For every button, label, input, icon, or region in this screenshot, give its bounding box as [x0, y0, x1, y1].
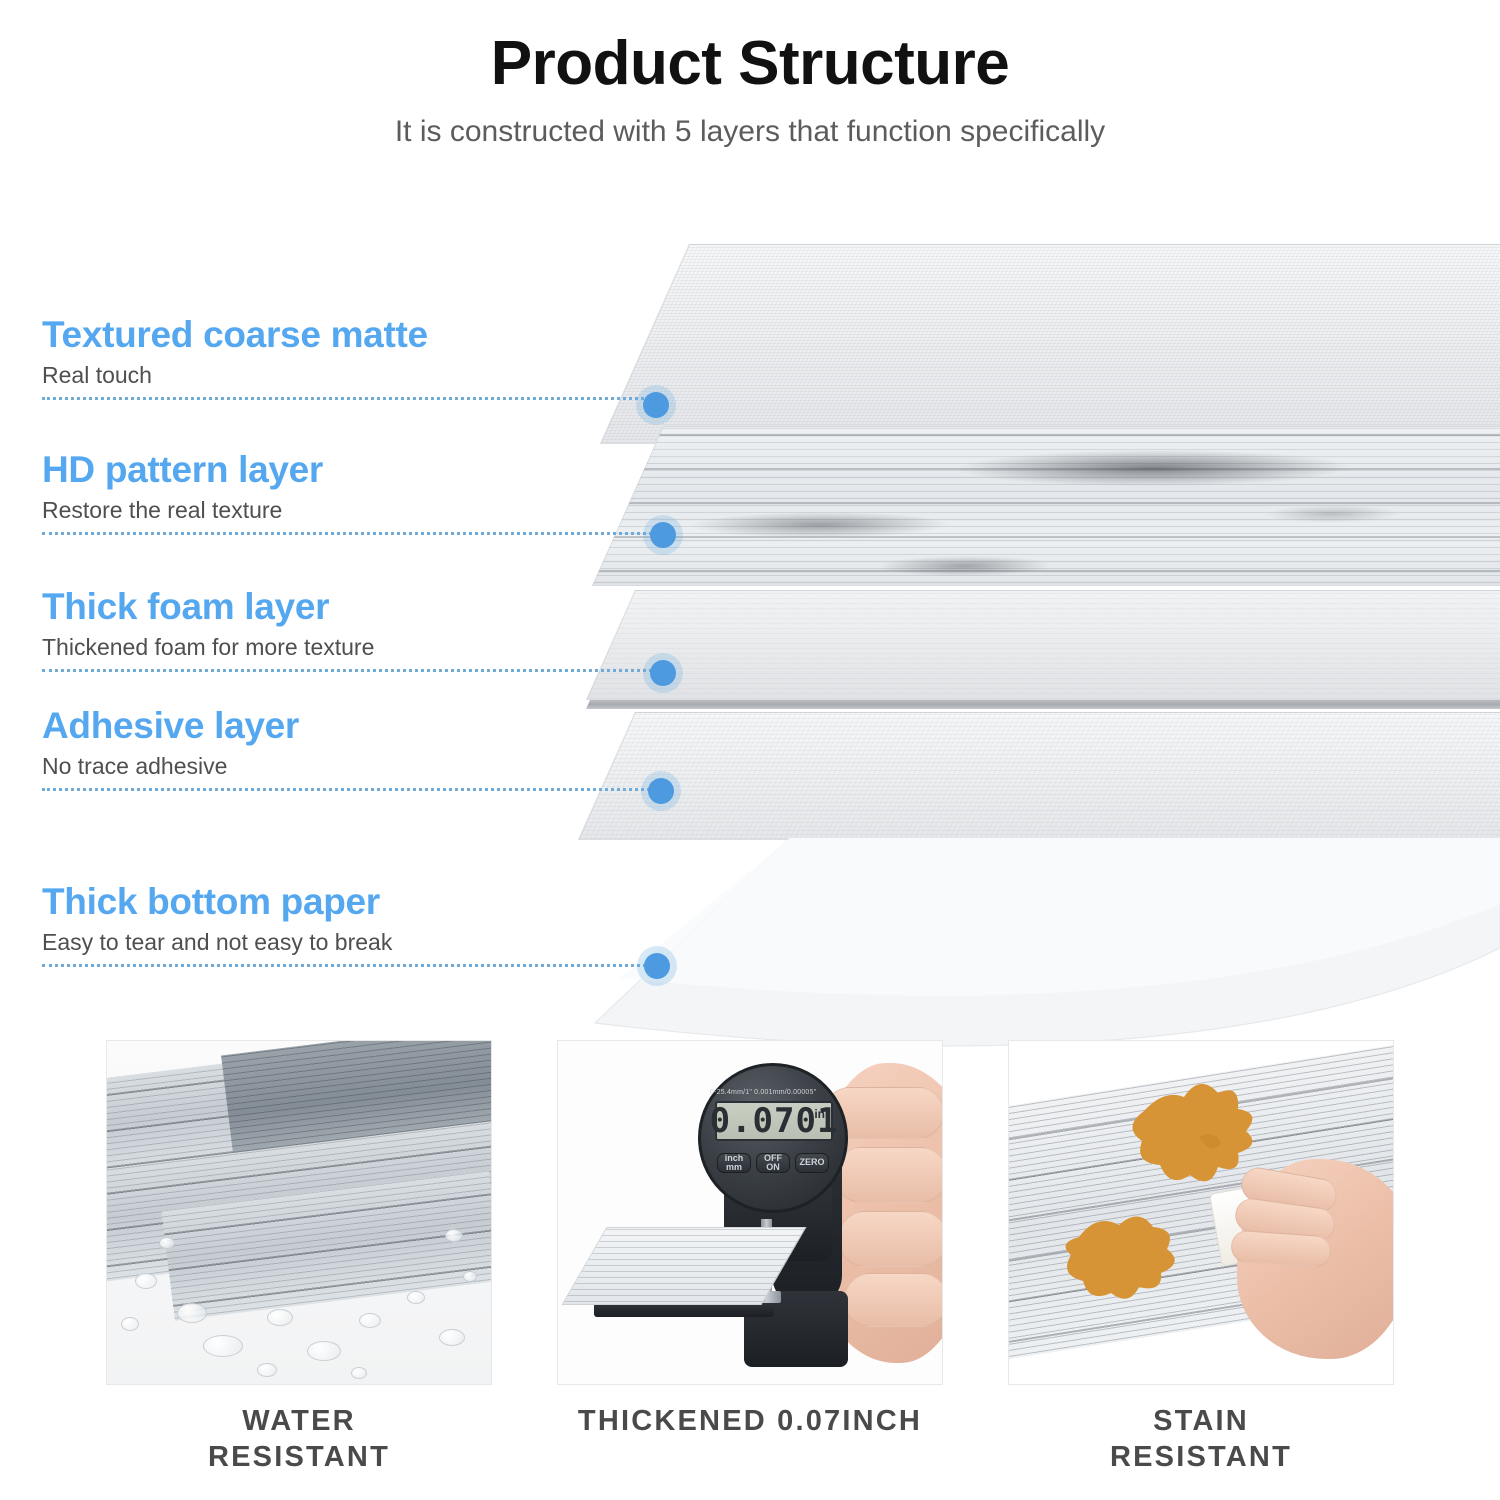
- water-droplet: [135, 1273, 157, 1289]
- water-droplet: [351, 1367, 367, 1379]
- thickness-gauge-photo: 0-25.4mm/1" 0.001mm/0.00005" 0.0701 in i…: [557, 1040, 943, 1385]
- water-droplet: [267, 1309, 293, 1326]
- callout-title: Thick bottom paper: [42, 882, 652, 922]
- feature-caption-line1: STAIN: [1008, 1403, 1394, 1439]
- callout-subtitle: Real touch: [42, 362, 652, 388]
- feature-thickness: 0-25.4mm/1" 0.001mm/0.00005" 0.0701 in i…: [557, 1040, 943, 1439]
- layer-foam-edge: [586, 700, 1500, 709]
- bottom-paper-shape: [540, 838, 1500, 1068]
- feature-caption: THICKENED 0.07INCH: [557, 1403, 943, 1439]
- water-droplet: [439, 1329, 465, 1346]
- gauge-frame-anvil: [594, 1303, 774, 1317]
- water-droplet: [121, 1317, 139, 1331]
- water-droplet: [203, 1335, 243, 1357]
- gauge-zero-button[interactable]: ZERO: [795, 1153, 829, 1173]
- callout-textured-coarse-matte: Textured coarse matte Real touch: [42, 315, 652, 400]
- finger: [844, 1273, 943, 1327]
- callout-thick-bottom-paper: Thick bottom paper Easy to tear and not …: [42, 882, 652, 967]
- callout-dotted-line: [42, 532, 658, 535]
- callout-dotted-line: [42, 397, 650, 400]
- layer-sheet-thick-bottom-paper: [540, 838, 1500, 1068]
- finger: [838, 1211, 943, 1267]
- callout-dotted-line: [42, 669, 658, 672]
- gauge-unit: in: [814, 1107, 825, 1121]
- layer-sheet-hd-pattern: [592, 426, 1500, 586]
- feature-caption-line2: RESISTANT: [106, 1439, 492, 1475]
- callout-title: HD pattern layer: [42, 450, 652, 490]
- callout-subtitle: Restore the real texture: [42, 497, 652, 523]
- feature-caption-line1: WATER: [106, 1403, 492, 1439]
- connector-dot-textured-coarse-matte: [643, 392, 669, 418]
- product-structure-infographic: Product Structure It is constructed with…: [0, 0, 1500, 1500]
- callout-thick-foam-layer: Thick foam layer Thickened foam for more…: [42, 587, 652, 672]
- page-subtitle: It is constructed with 5 layers that fun…: [0, 114, 1500, 150]
- gauge-power-button[interactable]: OFF ON: [756, 1153, 790, 1173]
- callout-title: Adhesive layer: [42, 706, 652, 746]
- callout-adhesive-layer: Adhesive layer No trace adhesive: [42, 706, 652, 791]
- water-droplet: [407, 1291, 425, 1304]
- water-droplet: [445, 1229, 463, 1242]
- connector-dot-adhesive-layer: [648, 778, 674, 804]
- callout-dotted-line: [42, 788, 656, 791]
- water-droplet: [177, 1303, 207, 1323]
- finger: [1230, 1230, 1332, 1269]
- feature-row: WATER RESISTANT: [0, 1040, 1500, 1500]
- callout-dotted-line: [42, 964, 652, 967]
- callout-hd-pattern-layer: HD pattern layer Restore the real textur…: [42, 450, 652, 535]
- gauge-scale-text: 0-25.4mm/1" 0.001mm/0.00005": [710, 1089, 816, 1096]
- connector-dot-hd-pattern-layer: [650, 522, 676, 548]
- callout-title: Thick foam layer: [42, 587, 652, 627]
- feature-caption: STAIN RESISTANT: [1008, 1403, 1394, 1476]
- water-droplet: [159, 1237, 175, 1249]
- callout-subtitle: Thickened foam for more texture: [42, 634, 652, 660]
- callout-subtitle: Easy to tear and not easy to break: [42, 929, 652, 955]
- water-droplet: [257, 1363, 277, 1377]
- feature-caption: WATER RESISTANT: [106, 1403, 492, 1476]
- water-droplet: [307, 1341, 341, 1361]
- layer-sheet-textured-coarse-matte: [600, 244, 1500, 444]
- water-droplet: [463, 1271, 477, 1282]
- stain-resistant-photo: [1008, 1040, 1394, 1385]
- finger: [834, 1147, 943, 1203]
- layer-sheet-adhesive: [578, 712, 1500, 840]
- callout-subtitle: No trace adhesive: [42, 753, 652, 779]
- layer-sheet-thick-foam: [586, 590, 1500, 700]
- feature-caption-line1: THICKENED 0.07INCH: [557, 1403, 943, 1439]
- connector-dot-thick-foam-layer: [650, 660, 676, 686]
- connector-dot-thick-bottom-paper: [644, 953, 670, 979]
- gauge-inch-mm-button[interactable]: inch mm: [717, 1153, 751, 1173]
- page-title: Product Structure: [0, 30, 1500, 98]
- feature-caption-line2: RESISTANT: [1008, 1439, 1394, 1475]
- water-droplet: [359, 1313, 381, 1328]
- header: Product Structure It is constructed with…: [0, 0, 1500, 150]
- water-resistant-photo: [106, 1040, 492, 1385]
- callout-title: Textured coarse matte: [42, 315, 652, 355]
- feature-stain-resistant: STAIN RESISTANT: [1008, 1040, 1394, 1476]
- gauge-display: 0.0701 in: [715, 1101, 833, 1141]
- feature-water-resistant: WATER RESISTANT: [106, 1040, 492, 1476]
